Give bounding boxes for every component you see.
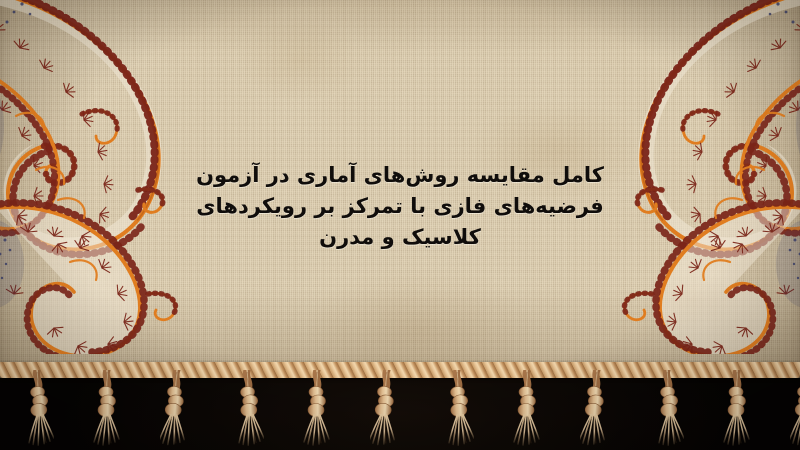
title-line-3: کلاسیک و مدرن <box>185 222 615 253</box>
slide-canvas: کامل مقایسه روش‌های آماری در آزمون فرضیه… <box>0 0 800 450</box>
tassel <box>440 370 474 446</box>
tassel <box>720 370 754 446</box>
tassel <box>160 370 194 446</box>
termeh-cloth: کامل مقایسه روش‌های آماری در آزمون فرضیه… <box>0 0 800 378</box>
tassel <box>650 370 684 446</box>
tassel <box>230 370 264 446</box>
title-line-2: فرضیه‌های فازی با تمرکز بر رویکردهای <box>185 191 615 222</box>
title-line-1: کامل مقایسه روش‌های آماری در آزمون <box>185 160 615 191</box>
tassel <box>580 370 614 446</box>
tassel <box>20 370 54 446</box>
tassel <box>790 370 800 446</box>
tassel <box>300 370 334 446</box>
tassel <box>370 370 404 446</box>
tassel-fringe <box>0 362 800 450</box>
tassel <box>90 370 124 446</box>
slide-title: کامل مقایسه روش‌های آماری در آزمون فرضیه… <box>185 160 615 253</box>
tassel <box>510 370 544 446</box>
